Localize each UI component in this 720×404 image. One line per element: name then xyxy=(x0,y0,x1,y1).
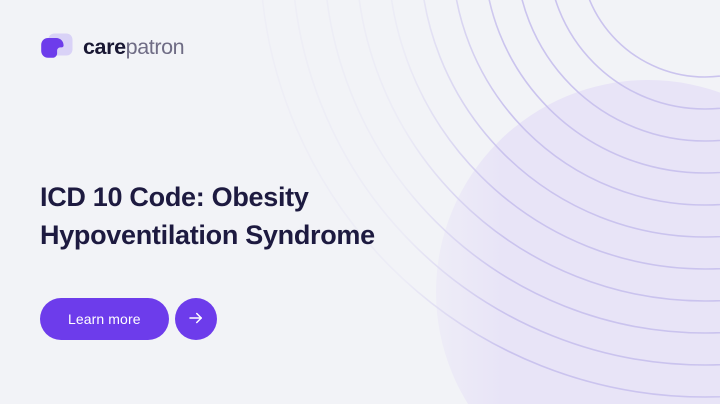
learn-more-arrow-button[interactable] xyxy=(175,298,217,340)
carepatron-logo-mark xyxy=(40,32,74,62)
carepatron-wordmark: carepatron xyxy=(83,37,184,59)
promo-banner: carepatron ICD 10 Code: Obesity Hypovent… xyxy=(0,0,720,404)
carepatron-logo[interactable]: carepatron xyxy=(40,30,184,64)
cta-group: Learn more xyxy=(40,298,217,340)
headline-line-1: ICD 10 Code: Obesity xyxy=(40,178,460,216)
wordmark-care: care xyxy=(83,35,126,59)
headline-line-2: Hypoventilation Syndrome xyxy=(40,216,460,254)
page-title: ICD 10 Code: Obesity Hypoventilation Syn… xyxy=(40,178,460,255)
decorative-disc xyxy=(436,80,720,404)
learn-more-button[interactable]: Learn more xyxy=(40,298,169,340)
wordmark-patron: patron xyxy=(126,35,185,59)
arrow-right-icon xyxy=(187,309,205,330)
